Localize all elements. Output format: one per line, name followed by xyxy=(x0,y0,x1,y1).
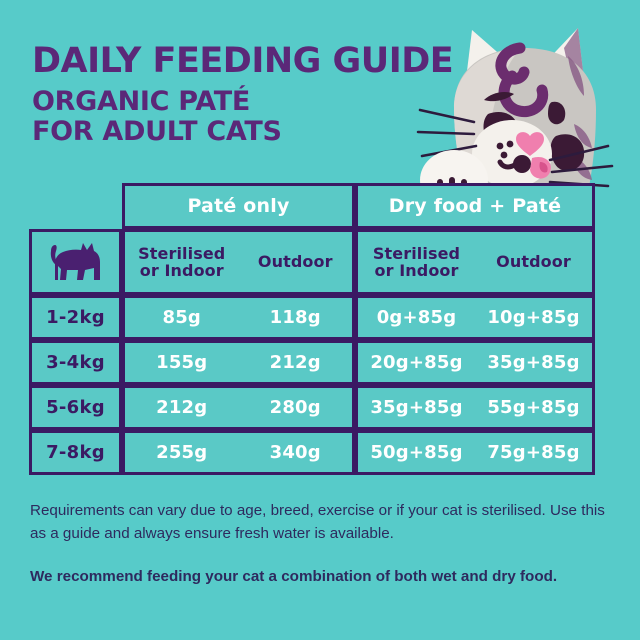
table-row: 5-6kg 212g 280g 35g+85g 55g+85g xyxy=(29,385,595,430)
title-line-2: ORGANIC PATÉ xyxy=(32,87,453,117)
cell-dry-outdoor: 35g+85g xyxy=(475,352,592,373)
sub-header-pate-outdoor: Outdoor xyxy=(239,253,353,270)
sub-header-dry-outdoor: Outdoor xyxy=(475,253,592,270)
group-header-pate-only: Paté only xyxy=(122,183,355,229)
cell-dry-outdoor: 75g+85g xyxy=(475,442,592,463)
cell-pate-outdoor: 118g xyxy=(239,307,353,328)
cell-dry-outdoor: 10g+85g xyxy=(475,307,592,328)
footer-notes: Requirements can vary due to age, breed,… xyxy=(30,500,610,589)
row-weight-label: 7-8kg xyxy=(29,430,122,475)
cell-pate-sterilised: 85g xyxy=(125,307,239,328)
table-group-header-row: Paté only Dry food + Paté xyxy=(29,183,595,229)
daily-feeding-guide-poster: DAILY FEEDING GUIDE ORGANIC PATÉ FOR ADU… xyxy=(0,0,640,640)
footer-paragraph-1: Requirements can vary due to age, breed,… xyxy=(30,500,610,545)
cell-dry-sterilised: 35g+85g xyxy=(358,397,475,418)
group-header-dry-food-pate: Dry food + Paté xyxy=(355,183,595,229)
footer-paragraph-2: We recommend feeding your cat a combinat… xyxy=(30,566,610,589)
sub-header-dry-sterilised: Sterilisedor Indoor xyxy=(358,245,475,280)
row-pate-values: 255g 340g xyxy=(122,430,355,475)
row-dry-values: 20g+85g 35g+85g xyxy=(355,340,595,385)
table-sub-header-row: Sterilisedor Indoor Outdoor Sterilisedor… xyxy=(29,229,595,295)
cell-pate-outdoor: 340g xyxy=(239,442,353,463)
cell-dry-sterilised: 20g+85g xyxy=(358,352,475,373)
sub-header-pate-sterilised: Sterilisedor Indoor xyxy=(125,245,239,280)
row-pate-values: 212g 280g xyxy=(122,385,355,430)
row-pate-values: 85g 118g xyxy=(122,295,355,340)
row-dry-values: 35g+85g 55g+85g xyxy=(355,385,595,430)
feeding-table: Paté only Dry food + Paté Sterilisedor I… xyxy=(29,183,595,475)
row-dry-values: 50g+85g 75g+85g xyxy=(355,430,595,475)
table-row: 1-2kg 85g 118g 0g+85g 10g+85g xyxy=(29,295,595,340)
row-weight-label: 3-4kg xyxy=(29,340,122,385)
title-line-1: DAILY FEEDING GUIDE xyxy=(32,44,453,80)
title-line-3: FOR ADULT CATS xyxy=(32,117,453,147)
row-dry-values: 0g+85g 10g+85g xyxy=(355,295,595,340)
cat-silhouette-icon xyxy=(29,229,122,295)
cell-pate-sterilised: 155g xyxy=(125,352,239,373)
sub-header-group-pate: Sterilisedor Indoor Outdoor xyxy=(122,229,355,295)
cell-dry-sterilised: 50g+85g xyxy=(358,442,475,463)
cell-dry-sterilised: 0g+85g xyxy=(358,307,475,328)
cell-dry-outdoor: 55g+85g xyxy=(475,397,592,418)
row-weight-label: 1-2kg xyxy=(29,295,122,340)
cell-pate-outdoor: 212g xyxy=(239,352,353,373)
cell-pate-sterilised: 255g xyxy=(125,442,239,463)
cell-pate-sterilised: 212g xyxy=(125,397,239,418)
row-pate-values: 155g 212g xyxy=(122,340,355,385)
row-weight-label: 5-6kg xyxy=(29,385,122,430)
corner-spacer xyxy=(29,183,122,229)
table-row: 3-4kg 155g 212g 20g+85g 35g+85g xyxy=(29,340,595,385)
sub-header-group-dry: Sterilisedor Indoor Outdoor xyxy=(355,229,595,295)
page-title: DAILY FEEDING GUIDE ORGANIC PATÉ FOR ADU… xyxy=(32,44,453,147)
cell-pate-outdoor: 280g xyxy=(239,397,353,418)
table-row: 7-8kg 255g 340g 50g+85g 75g+85g xyxy=(29,430,595,475)
